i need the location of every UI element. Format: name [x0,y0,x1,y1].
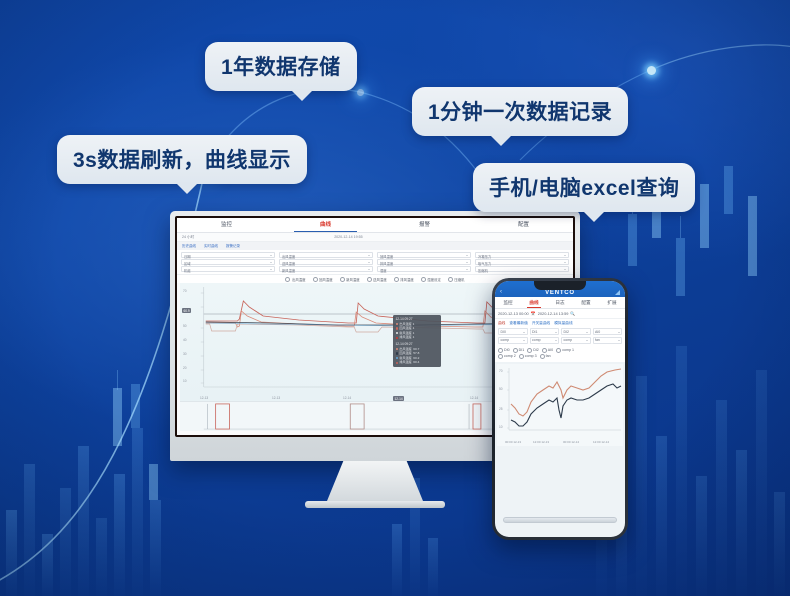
select-label: comp [564,338,573,342]
radio-fan[interactable]: fan [540,354,551,359]
legend-item[interactable]: 排风温度 [394,277,414,282]
filter-label: 湿度 [380,268,387,273]
search-icon[interactable]: 🔍 [570,311,575,316]
link-alarm-records[interactable]: 报警记录 [226,244,240,249]
phone-x-tick: 12:00 12-14 [593,441,609,444]
select-label: DI1 [532,330,537,334]
filter-label: 回风温度 [380,254,393,259]
tooltip-time: 12-14 09:27 [396,342,439,346]
callout-text: 1分钟一次数据记录 [428,101,612,124]
bubble-tail [176,183,198,194]
select-di1[interactable]: DI1 [530,328,560,335]
legend-item[interactable]: 出风温度 [285,277,305,282]
date-to[interactable]: 2020-12-14 13:59 [538,311,569,316]
tab-curve[interactable]: 曲线 [276,218,375,232]
legend-item[interactable]: 回风温度 [313,277,333,282]
filter-exhaust-temp[interactable]: 排风温度 [377,259,471,265]
callout-bubble-logging: 1分钟一次数据记录 [412,87,628,136]
radio-ai0[interactable]: AI0 [542,348,553,353]
phone-x-tick: 12:00 12-13 [533,441,549,444]
radio-comp2[interactable]: comp 2 [498,354,516,359]
x-tick: 12-14 [343,396,351,400]
select-label: fan [595,338,600,342]
filter-label: 区域 [184,261,191,266]
filter-unit[interactable]: 机组 [181,266,275,272]
filter-label: 冷凝压力 [478,254,491,259]
phone-x-tick: 00:00 12-14 [563,441,579,444]
chart-tooltip: 12-14 09:27 出风温度 1 回风温度 1 新风温度 1 排风温度 1 … [393,315,441,367]
tooltip-time: 12-14 09:27 [396,317,439,321]
range-label: 24 小时 [182,235,194,240]
tab-alarm[interactable]: 报警 [375,218,474,232]
bubble-tail [583,211,605,222]
filter-label: 送风温度 [282,261,295,266]
phone-screen: ‹ VENTCO 监控 曲线 日志 配置 扩展 2020-12-13 00:00… [495,281,625,537]
filter-supply-temp[interactable]: 送风温度 [279,259,373,265]
phone-scrollbar[interactable] [503,517,617,523]
radio-comp3[interactable]: comp 3 [519,354,537,359]
filter-return-temp[interactable]: 回风温度 [377,252,471,258]
y-tick: 40 [183,338,187,342]
link-digital-curve[interactable]: 开关量曲线 [532,321,550,326]
monitor-foot [305,501,445,508]
phone-tab-bar: 监控 曲线 日志 配置 扩展 [495,297,625,309]
y-tick: 10 [183,379,187,383]
filter-cond-pressure[interactable]: 冷凝压力 [475,252,569,258]
select-di0[interactable]: DI0 [498,328,528,335]
phone-y-tick: 50 [499,387,503,391]
select-comp3[interactable]: comp [561,337,591,344]
phone-tab-config[interactable]: 配置 [573,297,599,308]
date-from[interactable]: 2020-12-13 00:00 [498,311,529,316]
callout-text: 3s数据刷新，曲线显示 [73,149,291,172]
filter-row: 区域 送风温度 排风温度 吸气压力 [181,259,569,265]
phone-quick-links: 曲线 查看最新值 开关量曲线 模拟量曲线 [495,319,625,327]
filter-humidity[interactable]: 湿度 [377,266,471,272]
phone-tab-log[interactable]: 日志 [547,297,573,308]
phone-body: ‹ VENTCO 监控 曲线 日志 配置 扩展 2020-12-13 00:00… [492,278,628,540]
filter-row: 机组 新风温度 湿度 压缩机 [181,266,569,272]
y-tick: 20 [183,366,187,370]
select-label: DI2 [564,330,569,334]
y-tick: 70 [183,289,187,293]
callout-text: 1年数据存储 [221,56,341,79]
app-title: VENTCO [495,290,625,296]
radio-comp1[interactable]: comp 1 [556,348,574,353]
radio-di1[interactable]: DI1 [513,348,525,353]
selector-row: DI0 DI1 DI2 AI0 [498,328,622,335]
filter-outlet-temp[interactable]: 出风温度 [279,252,373,258]
phone-y-tick: 70 [499,369,503,373]
timestamp-label: 2020-12-14 19:55 [334,235,362,239]
x-tick: 12-13 [200,396,208,400]
monitor-filter-grid: 日期 出风温度 回风温度 冷凝压力 区域 送风温度 排风温度 吸气压力 机组 新… [177,250,573,275]
monitor-stand [327,461,423,501]
y-tick: 30 [183,352,187,356]
y-axis-highlight: 60.9 [182,308,191,313]
filter-label: 压缩机 [478,268,488,273]
phone-notch [534,281,586,290]
radio-di2[interactable]: DI2 [527,348,539,353]
select-label: AI0 [595,330,600,334]
x-tick: 12-14 [470,396,478,400]
phone-radio-group: DI0 DI1 DI2 AI0 comp 1 comp 2 comp 3 fan [495,346,625,362]
filter-row: 日期 出风温度 回风温度 冷凝压力 [181,252,569,258]
filter-label: 日期 [184,254,191,259]
radio-row: DI0 DI1 DI2 AI0 comp 1 [498,348,622,353]
phone-date-range: 2020-12-13 00:00 📅 2020-12-14 13:59 🔍 [495,309,625,319]
phone-line-chart: 70 50 25 10 00:00 12-13 12:00 12-13 00:0… [497,364,623,446]
radio-row: comp 2 comp 3 fan [498,354,622,359]
link-latest[interactable]: 查看最新值 [509,321,527,326]
radio-di0[interactable]: DI0 [498,348,510,353]
legend-item[interactable]: 新风温度 [340,277,360,282]
y-tick: 50 [183,324,187,328]
calendar-icon[interactable]: 📅 [531,311,536,316]
legend-item[interactable]: 送风温度 [367,277,387,282]
link-analog-curve[interactable]: 模拟量曲线 [554,321,572,326]
legend-item[interactable]: 压缩机 [448,277,465,282]
callout-bubble-refresh: 3s数据刷新，曲线显示 [57,135,307,184]
tab-config[interactable]: 配置 [474,218,573,232]
phone-selector-grid: DI0 DI1 DI2 AI0 comp comp comp fan [495,327,625,346]
filter-date[interactable]: 日期 [181,252,275,258]
select-ai0[interactable]: AI0 [593,328,623,335]
phone-chart-svg [497,364,623,446]
mobile-phone: ‹ VENTCO 监控 曲线 日志 配置 扩展 2020-12-13 00:00… [492,278,628,540]
callout-bubble-storage: 1年数据存储 [205,42,357,91]
link-history-curve[interactable]: 历史曲线 [182,244,196,249]
phone-tab-curve[interactable]: 曲线 [521,297,547,308]
filter-zone[interactable]: 区域 [181,259,275,265]
filter-suction-pressure[interactable]: 吸气压力 [475,259,569,265]
monitor-tab-bar: 监控 曲线 报警 配置 [177,218,573,233]
select-label: comp [501,338,510,342]
filter-compressor[interactable]: 压缩机 [475,266,569,272]
selector-row: comp comp comp fan [498,337,622,344]
tab-monitoring[interactable]: 监控 [177,218,276,232]
select-comp1[interactable]: comp [498,337,528,344]
bubble-tail [291,90,313,101]
link-realtime-curve[interactable]: 实时曲线 [204,244,218,249]
phone-y-tick: 10 [499,425,503,429]
tooltip-row: 排风温度60.4 [396,360,439,365]
filter-label: 排风温度 [380,261,393,266]
callout-text: 手机/电脑excel查询 [489,177,679,200]
monitor-quick-links: 历史曲线 实时曲线 报警记录 [177,242,573,250]
phone-y-tick: 25 [499,407,503,411]
select-fan[interactable]: fan [593,337,623,344]
filter-fresh-temp[interactable]: 新风温度 [279,266,373,272]
signal-icon [615,290,620,295]
legend-item[interactable]: 湿度设定 [421,277,441,282]
select-label: DI0 [501,330,506,334]
phone-x-tick: 00:00 12-13 [505,441,521,444]
monitor-subbar: 24 小时 2020-12-14 19:55 [177,233,573,242]
select-label: comp [532,338,541,342]
filter-label: 新风温度 [282,268,295,273]
link-curve[interactable]: 曲线 [498,321,505,326]
phone-tab-extend[interactable]: 扩展 [599,297,625,308]
phone-tab-monitoring[interactable]: 监控 [495,297,521,308]
filter-label: 机组 [184,268,191,273]
callout-bubble-excel: 手机/电脑excel查询 [473,163,695,212]
bubble-tail [490,135,512,146]
select-comp2[interactable]: comp [530,337,560,344]
tooltip-row: 排风温度 1 [396,335,439,340]
x-tick: 12-13 [272,396,280,400]
filter-label: 出风温度 [282,254,295,259]
filter-label: 吸气压力 [478,261,491,266]
select-di2[interactable]: DI2 [561,328,591,335]
